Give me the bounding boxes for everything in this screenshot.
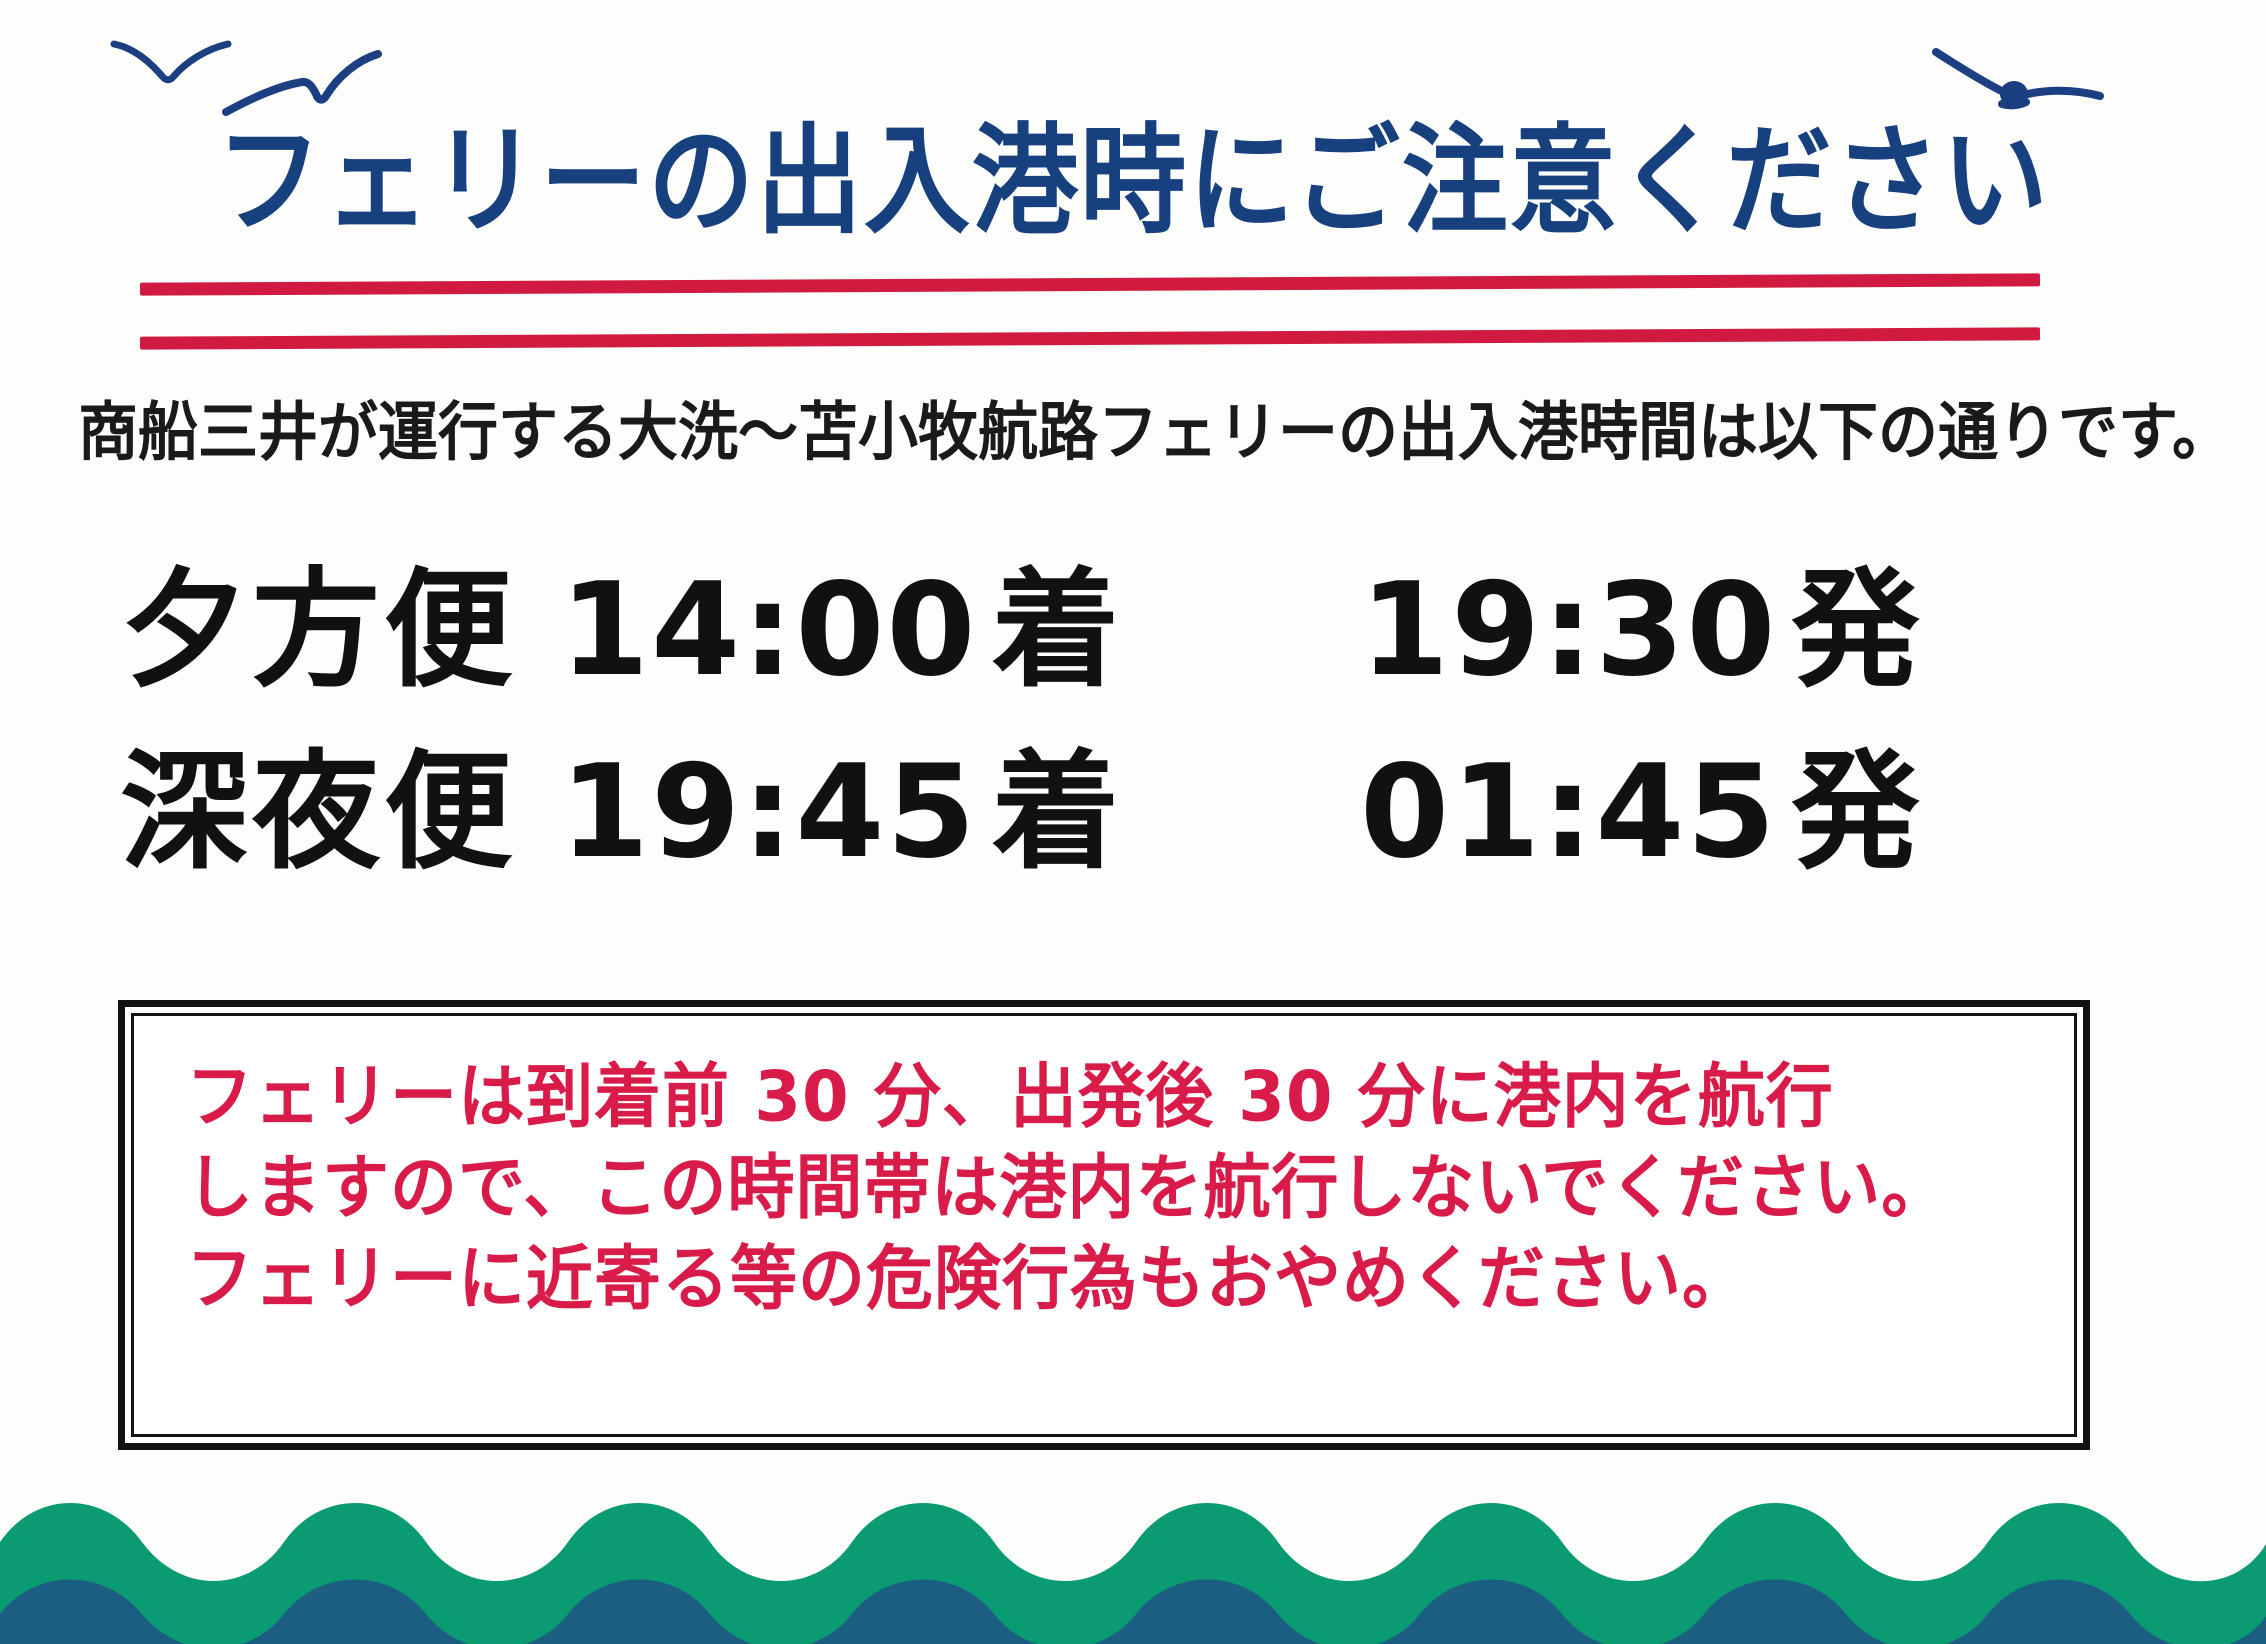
seagull-icon xyxy=(112,36,232,92)
warning-line: フェリーに近寄る等の危険行為もおやめください。 xyxy=(186,1232,2022,1327)
arrival-time: 19:45 xyxy=(560,738,977,887)
schedule-arrival-cell: 19:45着 xyxy=(560,722,1360,904)
ferry-notice-poster: フェリーの出入港時にご注意ください 商船三井が運行する大洗〜苫小牧航路フェリーの… xyxy=(0,0,2266,1644)
warning-line: フェリーは到着前 30 分、出発後 30 分に港内を航行 xyxy=(186,1050,2022,1145)
ferry-schedule: 夕方便 14:00着 19:30発 深夜便 19:45着 01:45発 xyxy=(120,540,2160,904)
title-block: フェリーの出入港時にご注意ください xyxy=(0,118,2266,232)
warning-box-inner-border: フェリーは到着前 30 分、出発後 30 分に港内を航行 しますので、この時間帯… xyxy=(131,1013,2077,1437)
departure-time: 01:45 xyxy=(1360,738,1777,887)
arrival-suffix-label: 着 xyxy=(991,738,1119,887)
departure-suffix-label: 発 xyxy=(1791,556,1919,705)
seagull-icon xyxy=(222,42,382,118)
divider-rule-top xyxy=(140,273,2040,295)
table-row: 夕方便 14:00着 19:30発 xyxy=(120,540,2160,722)
arrival-suffix-label: 着 xyxy=(991,556,1119,705)
wave-graphic xyxy=(0,1464,2266,1644)
table-row: 深夜便 19:45着 01:45発 xyxy=(120,722,2160,904)
warning-box: フェリーは到着前 30 分、出発後 30 分に港内を航行 しますので、この時間帯… xyxy=(118,1000,2090,1450)
schedule-row-label: 夕方便 xyxy=(120,540,560,722)
schedule-arrival-cell: 14:00着 xyxy=(560,540,1360,722)
schedule-row-label: 深夜便 xyxy=(120,722,560,904)
page-title: フェリーの出入港時にご注意ください xyxy=(0,118,2266,246)
schedule-departure-cell: 01:45発 xyxy=(1360,722,2160,904)
arrival-time: 14:00 xyxy=(560,556,977,705)
departure-time: 19:30 xyxy=(1360,556,1777,705)
departure-suffix-label: 発 xyxy=(1791,738,1919,887)
warning-line: しますので、この時間帯は港内を航行しないでください。 xyxy=(186,1141,2022,1236)
divider-rule-bottom xyxy=(140,327,2040,349)
lead-sentence: 商船三井が運行する大洗〜苫小牧航路フェリーの出入港時間は以下の通りです。 xyxy=(78,398,2188,468)
schedule-departure-cell: 19:30発 xyxy=(1360,540,2160,722)
